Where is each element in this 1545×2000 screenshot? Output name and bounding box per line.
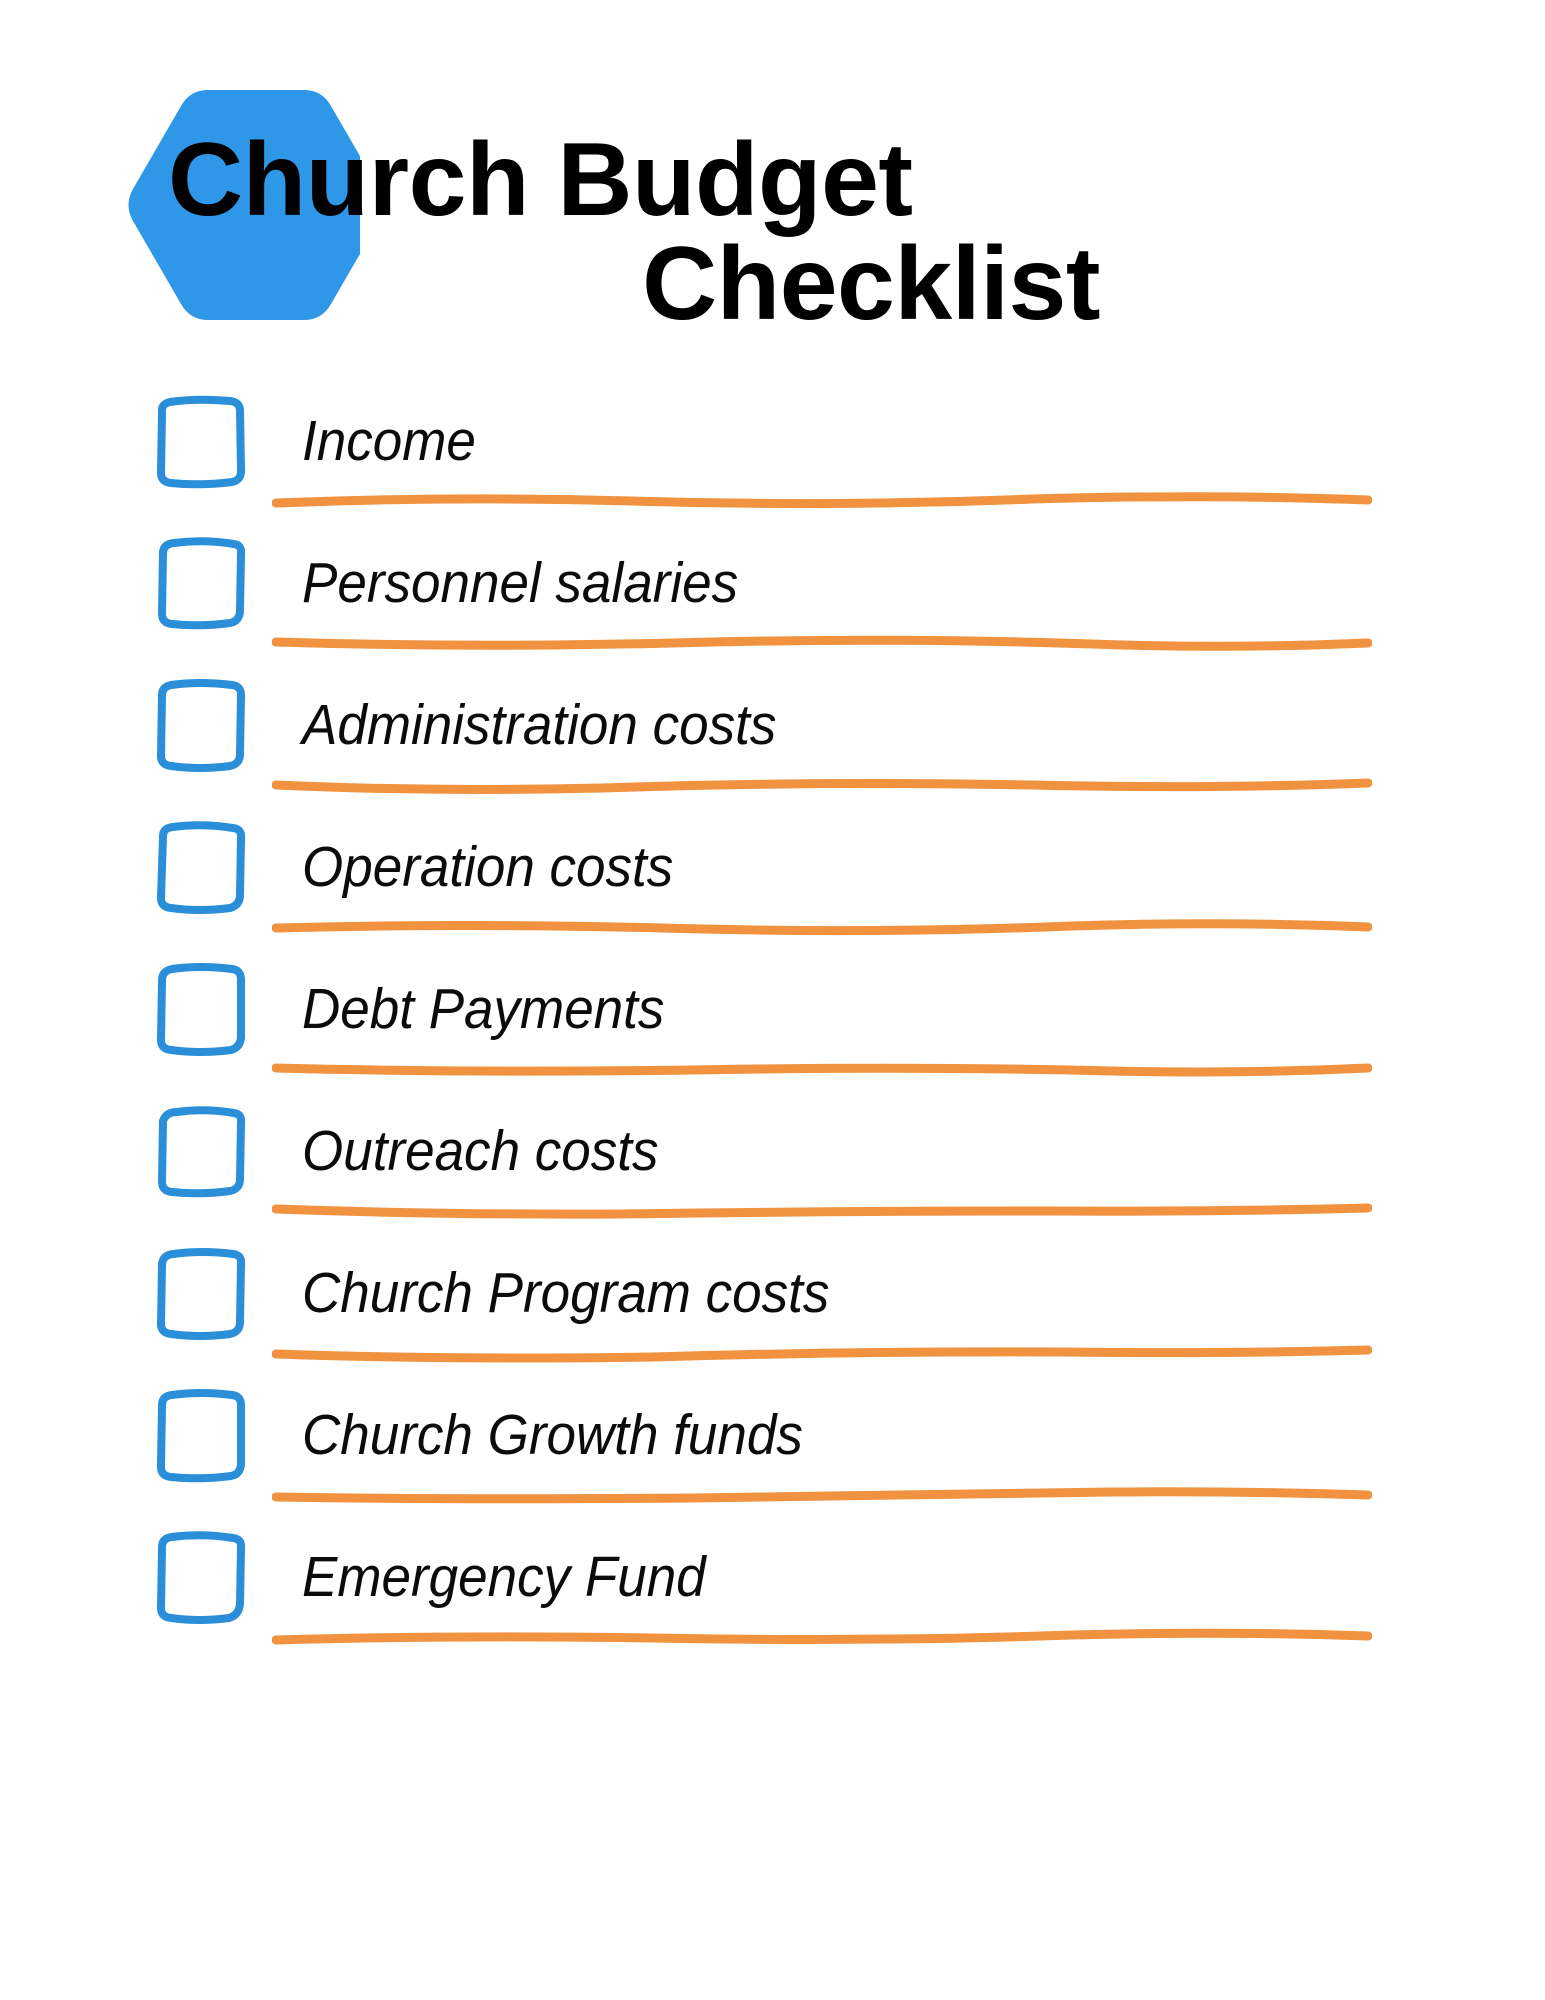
row-underline: [272, 1198, 1372, 1222]
checkbox-empty-icon[interactable]: [150, 394, 254, 490]
checkbox-empty-icon[interactable]: [150, 820, 254, 916]
list-item[interactable]: Debt Payments: [0, 948, 1545, 1090]
list-item[interactable]: Administration costs: [0, 664, 1545, 806]
checkbox-empty-icon[interactable]: [150, 962, 254, 1058]
list-item[interactable]: Church Growth funds: [0, 1374, 1545, 1516]
list-item-label: Outreach costs: [302, 1112, 659, 1190]
checkbox-empty-icon[interactable]: [150, 678, 254, 774]
list-item-label: Church Growth funds: [302, 1396, 803, 1474]
list-item-label: Administration costs: [302, 686, 776, 764]
row-underline: [272, 1624, 1372, 1648]
title-line-1: Church Budget: [168, 130, 1100, 232]
list-item[interactable]: Operation costs: [0, 806, 1545, 948]
row-underline: [272, 914, 1372, 938]
checkbox-empty-icon[interactable]: [150, 1388, 254, 1484]
checkbox-empty-icon[interactable]: [150, 1530, 254, 1626]
list-item-label: Debt Payments: [302, 970, 664, 1048]
row-underline: [272, 772, 1372, 796]
row-underline: [272, 488, 1372, 512]
list-item-label: Operation costs: [302, 828, 673, 906]
page-title: Church Budget Checklist: [150, 130, 1100, 336]
checkbox-empty-icon[interactable]: [150, 1246, 254, 1342]
checkbox-empty-icon[interactable]: [150, 536, 254, 632]
list-item[interactable]: Church Program costs: [0, 1232, 1545, 1374]
list-item-label: Emergency Fund: [302, 1538, 706, 1616]
checkbox-empty-icon[interactable]: [150, 1104, 254, 1200]
row-underline: [272, 1056, 1372, 1080]
list-item-label: Personnel salaries: [302, 544, 738, 622]
checklist: Income Personnel salaries Administration: [0, 380, 1545, 1658]
list-item-label: Income: [302, 402, 476, 480]
title-line-2: Checklist: [150, 234, 1100, 336]
row-underline: [272, 1482, 1372, 1506]
list-item[interactable]: Emergency Fund: [0, 1516, 1545, 1658]
list-item[interactable]: Personnel salaries: [0, 522, 1545, 664]
row-underline: [272, 1340, 1372, 1364]
page-header: Church Budget Checklist: [0, 0, 1545, 400]
list-item[interactable]: Outreach costs: [0, 1090, 1545, 1232]
list-item[interactable]: Income: [0, 380, 1545, 522]
list-item-label: Church Program costs: [302, 1254, 829, 1332]
row-underline: [272, 630, 1372, 654]
